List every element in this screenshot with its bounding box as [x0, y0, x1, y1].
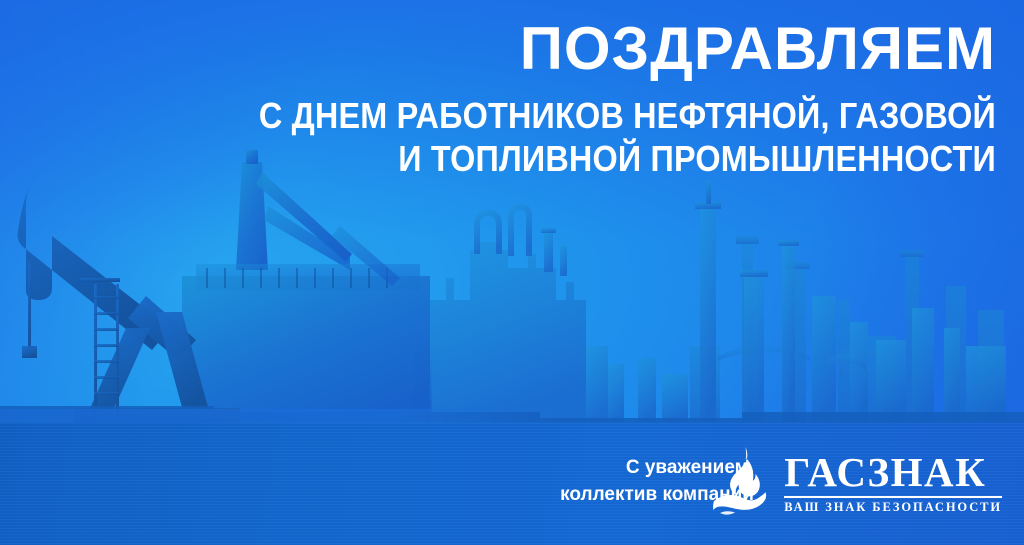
flame-in-hand-icon	[710, 445, 772, 521]
refinery-complex	[414, 204, 624, 422]
page-title: ПОЗДРАВЛЯЕМ	[176, 18, 996, 79]
greeting-text-block: ПОЗДРАВЛЯЕМ С ДНЕМ РАБОТНИКОВ НЕФТЯНОЙ, …	[176, 18, 996, 180]
logo-company-name: ГАСЗНАК	[784, 452, 1002, 493]
company-logo[interactable]: ГАСЗНАК ВАШ ЗНАК БЕЗОПАСНОСТИ	[710, 445, 1002, 521]
greeting-card: ПОЗДРАВЛЯЕМ С ДНЕМ РАБОТНИКОВ НЕФТЯНОЙ, …	[0, 0, 1024, 545]
subtitle-line-1: С ДНЕМ РАБОТНИКОВ НЕФТЯНОЙ, ГАЗОВОЙ	[258, 95, 996, 137]
industry-silhouette	[0, 150, 1024, 440]
subtitle: С ДНЕМ РАБОТНИКОВ НЕФТЯНОЙ, ГАЗОВОЙ И ТО…	[258, 95, 996, 180]
logo-wordmark: ГАСЗНАК ВАШ ЗНАК БЕЗОПАСНОСТИ	[784, 452, 1002, 514]
subtitle-line-2: И ТОПЛИВНОЙ ПРОМЫШЛЕННОСТИ	[258, 138, 996, 180]
ground-lip	[0, 409, 560, 423]
logo-divider	[784, 496, 1002, 498]
drilling-derrick	[182, 150, 430, 422]
logo-tagline: ВАШ ЗНАК БЕЗОПАСНОСТИ	[784, 501, 1002, 514]
